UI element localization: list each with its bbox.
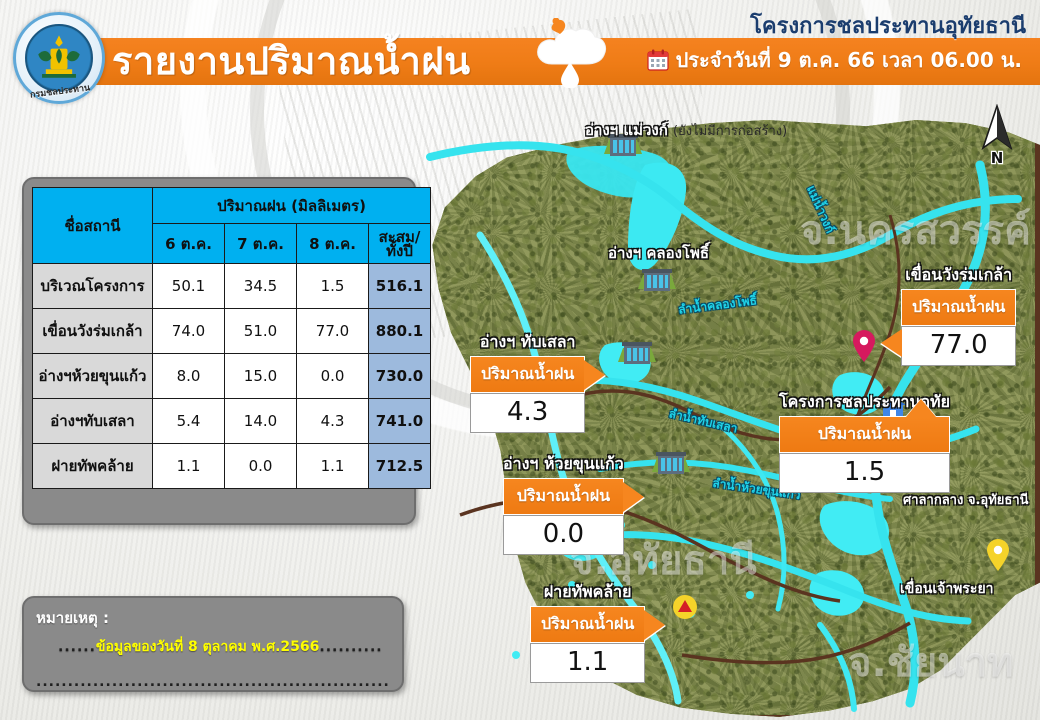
row-day3-value: 77.0: [297, 309, 369, 354]
row-day1-value: 5.4: [153, 399, 225, 444]
table-header-row-1: ชื่อสถานี ปริมาณฝน (มิลลิเมตร): [33, 188, 431, 224]
rainfall-report-page: จ.นครสวรรค์ จ.อุทัยธานี จ.ชัยนาท แม่น้ำว…: [0, 0, 1040, 720]
row-station-name: บริเวณโครงการ: [33, 264, 153, 309]
row-day1-value: 1.1: [153, 444, 225, 489]
dam-icon-thapsalao: [616, 338, 658, 368]
callout-uthaiproject-value: 1.5: [779, 453, 950, 493]
callout-arrow-right-icon: [584, 360, 605, 390]
rainfall-table-body: บริเวณโครงการ 50.1 34.5 1.5 516.1 เขื่อน…: [33, 264, 431, 489]
table-header-accumulated: สะสม/ ทั้งปี: [369, 224, 431, 264]
weir-marker-icon-thapkhlai[interactable]: [672, 594, 698, 620]
notes-panel: หมายเหตุ : ......ข้อมูลของวันที่ 8 ตุลาค…: [22, 596, 404, 692]
row-day2-value: 51.0: [225, 309, 297, 354]
rainfall-table-panel: ชื่อสถานี ปริมาณฝน (มิลลิเมตร) 6 ต.ค. 7 …: [22, 177, 416, 525]
rid-logo: กรมชลประทาน: [8, 10, 112, 110]
callout-huaikhunkaeo-label: ปริมาณน้ำฝน: [503, 478, 624, 515]
callout-arrow-right-icon: [623, 482, 644, 512]
table-header-group: ปริมาณฝน (มิลลิเมตร): [153, 188, 431, 224]
callout-uthaiproject[interactable]: โครงการชลประทานอุทัย ปริมาณน้ำฝน 1.5: [779, 390, 950, 493]
table-row: เขื่อนวังร่มเกล้า 74.0 51.0 77.0 880.1: [33, 309, 431, 354]
accum-line-2: ทั้งปี: [386, 242, 413, 260]
callout-thapsalao-box: ปริมาณน้ำฝน 4.3: [470, 356, 585, 433]
callout-huaikhunkaeo[interactable]: อ่างฯ ห้วยขุนแก้ว ปริมาณน้ำฝน 0.0: [503, 452, 624, 555]
table-row: อ่างฯทับเสลา 5.4 14.0 4.3 741.0: [33, 399, 431, 444]
row-day2-value: 34.5: [225, 264, 297, 309]
header-date-block: ประจำวันที่ 9 ต.ค. 66 เวลา 06.00 น.: [647, 44, 1022, 76]
callout-huaikhunkaeo-title: อ่างฯ ห้วยขุนแก้ว: [503, 452, 624, 477]
rain-cloud-icon: [530, 18, 610, 88]
notes-line-2: ........................................…: [36, 674, 390, 690]
callout-wangromklao-label: ปริมาณน้ำฝน: [901, 289, 1016, 326]
table-header-station: ชื่อสถานี: [33, 188, 153, 264]
table-row: บริเวณโครงการ 50.1 34.5 1.5 516.1: [33, 264, 431, 309]
row-day1-value: 8.0: [153, 354, 225, 399]
table-row: ฝายทัพคล้าย 1.1 0.0 1.1 712.5: [33, 444, 431, 489]
row-day3-value: 1.5: [297, 264, 369, 309]
row-accum-value: 730.0: [369, 354, 431, 399]
row-day1-value: 50.1: [153, 264, 225, 309]
callout-thapsalao[interactable]: อ่างฯ ทับเสลา ปริมาณน้ำฝน 4.3: [470, 330, 585, 433]
row-day2-value: 15.0: [225, 354, 297, 399]
rainfall-table: ชื่อสถานี ปริมาณฝน (มิลลิเมตร) 6 ต.ค. 7 …: [32, 187, 431, 489]
callout-thapsalao-title: อ่างฯ ทับเสลา: [470, 330, 585, 355]
callout-thapkhlai-label: ปริมาณน้ำฝน: [530, 606, 645, 643]
row-day3-value: 4.3: [297, 399, 369, 444]
callout-wangromklao-value: 77.0: [901, 326, 1016, 366]
callout-huaikhunkaeo-value: 0.0: [503, 515, 624, 555]
row-accum-value: 741.0: [369, 399, 431, 444]
row-day2-value: 0.0: [225, 444, 297, 489]
map-label-maewong-sub: (ยังไม่มีการก่อสร้าง): [673, 124, 787, 139]
row-station-name: ฝายทัพคล้าย: [33, 444, 153, 489]
callout-huaikhunkaeo-box: ปริมาณน้ำฝน 0.0: [503, 478, 624, 555]
row-station-name: อ่างฯทับเสลา: [33, 399, 153, 444]
table-header-day-3: 8 ต.ค.: [297, 224, 369, 264]
callout-wangromklao[interactable]: เขื่อนวังร่มเกล้า ปริมาณน้ำฝน 77.0: [901, 263, 1016, 366]
dam-icon-huaikhunkaeo: [650, 448, 692, 478]
notes-line-1-text: ข้อมูลของวันที่ 8 ตุลาคม พ.ศ.2566: [96, 639, 319, 655]
map-label-maewong-text: อ่างฯ แม่วงก์: [585, 121, 668, 139]
map-label-chaophraya: เขื่อนเจ้าพระยา: [900, 578, 994, 600]
map-pin-icon-chaophraya[interactable]: [985, 538, 1011, 572]
notes-trail-dots: ..........: [319, 639, 382, 655]
callout-thapkhlai-title: ฝายทัพคล้าย: [530, 580, 645, 605]
row-station-name: อ่างฯห้วยขุนแก้ว: [33, 354, 153, 399]
callout-arrow-right-icon: [644, 610, 665, 640]
page-header: โครงการชลประทานอุทัยธานี รายงานปริมาณน้ำ…: [0, 0, 1040, 100]
row-accum-value: 712.5: [369, 444, 431, 489]
notes-title: หมายเหตุ :: [36, 606, 390, 630]
callout-uthaiproject-box: ปริมาณน้ำฝน 1.5: [779, 416, 950, 493]
callout-wangromklao-title: เขื่อนวังร่มเกล้า: [901, 263, 1016, 288]
callout-wangromklao-box: ปริมาณน้ำฝน 77.0: [901, 289, 1016, 366]
province-label-chainat: จ.ชัยนาท: [848, 630, 1013, 694]
callout-arrow-up-icon: [906, 399, 936, 417]
table-header-day-1: 6 ต.ค.: [153, 224, 225, 264]
header-date-text: ประจำวันที่ 9 ต.ค. 66 เวลา 06.00 น.: [676, 44, 1022, 76]
north-arrow-icon: N: [975, 104, 1019, 166]
map-label-maewong: อ่างฯ แม่วงก์ (ยังไม่มีการก่อสร้าง): [585, 118, 787, 142]
callout-thapsalao-value: 4.3: [470, 393, 585, 433]
callout-arrow-left-icon: [881, 329, 902, 357]
callout-thapkhlai[interactable]: ฝายทัพคล้าย ปริมาณน้ำฝน 1.1: [530, 580, 645, 683]
page-title: รายงานปริมาณน้ำฝน: [112, 36, 471, 86]
notes-line-1: ......ข้อมูลของวันที่ 8 ตุลาคม พ.ศ.2566.…: [36, 636, 390, 658]
table-header-day-2: 7 ต.ค.: [225, 224, 297, 264]
compass-label: N: [991, 149, 1004, 166]
row-day2-value: 14.0: [225, 399, 297, 444]
table-row: อ่างฯห้วยขุนแก้ว 8.0 15.0 0.0 730.0: [33, 354, 431, 399]
row-day3-value: 1.1: [297, 444, 369, 489]
callout-thapkhlai-box: ปริมาณน้ำฝน 1.1: [530, 606, 645, 683]
row-day3-value: 0.0: [297, 354, 369, 399]
row-accum-value: 516.1: [369, 264, 431, 309]
callout-thapsalao-label: ปริมาณน้ำฝน: [470, 356, 585, 393]
row-accum-value: 880.1: [369, 309, 431, 354]
map-pin-icon-wangromklao[interactable]: [851, 329, 877, 363]
row-day1-value: 74.0: [153, 309, 225, 354]
rainfall-table-head: ชื่อสถานี ปริมาณฝน (มิลลิเมตร) 6 ต.ค. 7 …: [33, 188, 431, 264]
callout-uthaiproject-label: ปริมาณน้ำฝน: [779, 416, 950, 453]
header-project-name: โครงการชลประทานอุทัยธานี: [750, 8, 1026, 43]
calendar-icon: [647, 49, 669, 71]
row-station-name: เขื่อนวังร่มเกล้า: [33, 309, 153, 354]
map-label-klongpho: อ่างฯ คลองโพธิ์: [608, 241, 709, 265]
dam-icon-klongpho: [636, 265, 678, 295]
notes-lead-dots: ......: [58, 639, 96, 655]
callout-thapkhlai-value: 1.1: [530, 643, 645, 683]
